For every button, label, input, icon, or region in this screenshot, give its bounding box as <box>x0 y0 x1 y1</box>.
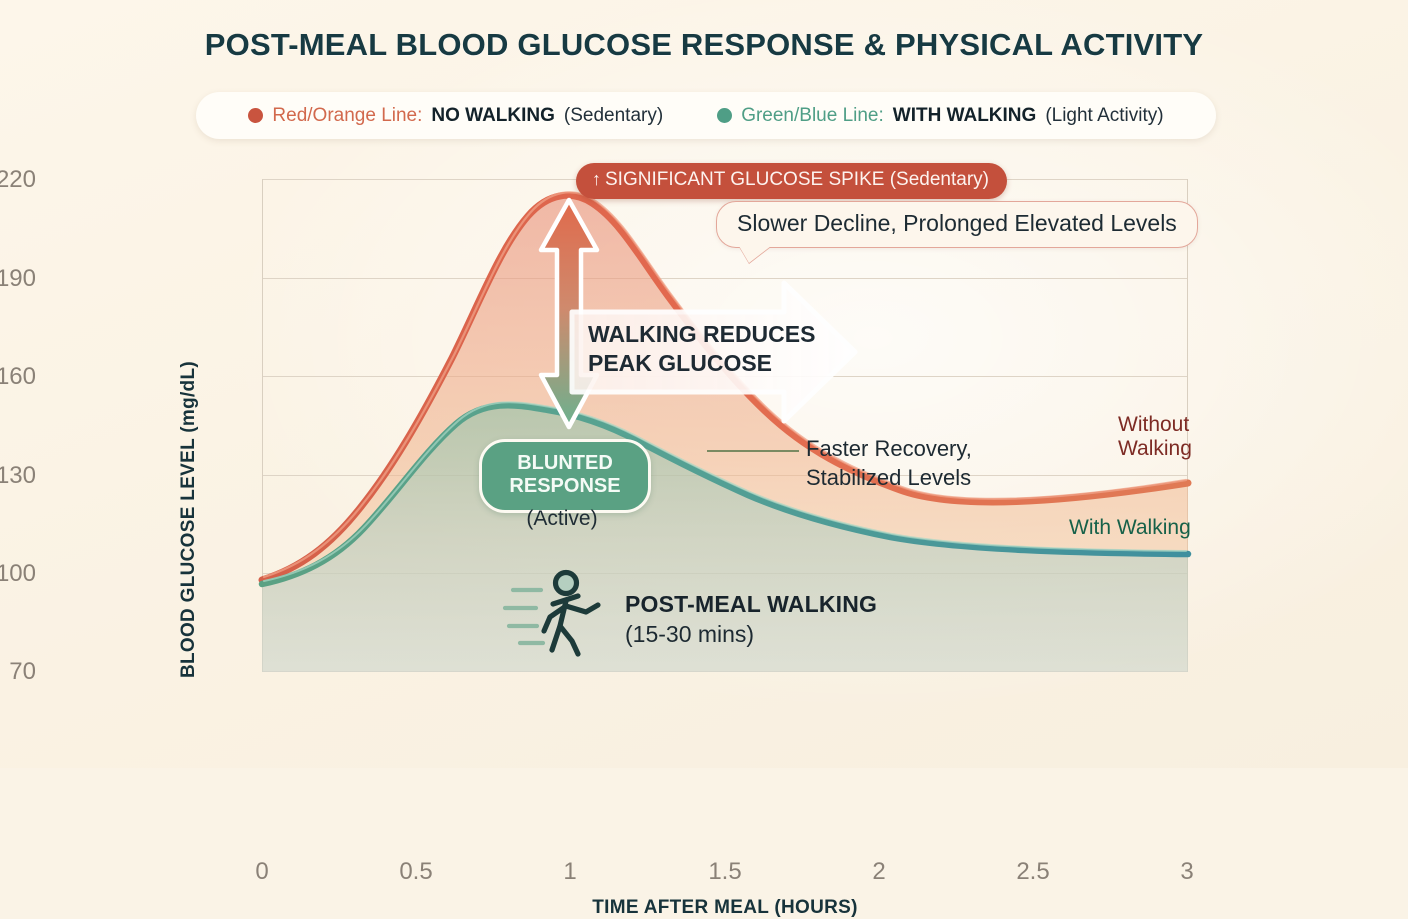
gridline-190 <box>262 278 1188 279</box>
post-meal-walking-label: POST-MEAL WALKING (15-30 mins) <box>625 590 877 650</box>
legend-strong-active: WITH WALKING <box>893 105 1037 127</box>
blunted-line-2: RESPONSE <box>482 475 648 498</box>
x-axis-title: TIME AFTER MEAL (HOURS) <box>262 897 1188 919</box>
blunted-line-1: BLUNTED <box>482 452 648 475</box>
spike-badge-label: SIGNIFICANT GLUCOSE SPIKE (Sedentary) <box>605 169 989 190</box>
spike-badge: ↑SIGNIFICANT GLUCOSE SPIKE (Sedentary) <box>576 163 1007 199</box>
faster-line-2: Stabilized Levels <box>806 463 972 492</box>
without-line-2: Walking <box>1118 437 1192 461</box>
axis-left-edge <box>262 179 263 672</box>
series-label-with-walking: With Walking <box>1069 516 1191 540</box>
walking-reduces-label: WALKING REDUCES PEAK GLUCOSE <box>588 320 815 379</box>
legend-strong-sedentary: NO WALKING <box>431 105 555 127</box>
xtick-2: 2 <box>872 858 885 886</box>
without-line-1: Without <box>1118 413 1192 437</box>
legend-item-sedentary: Red/Orange Line: NO WALKING (Sedentary) <box>248 105 663 127</box>
reduce-line-1: WALKING REDUCES <box>588 320 815 349</box>
legend-prefix-sedentary: Red/Orange Line: <box>272 105 422 127</box>
up-arrow-icon: ↑ <box>592 169 601 189</box>
chart-canvas: POST-MEAL BLOOD GLUCOSE RESPONSE & PHYSI… <box>0 0 1408 768</box>
blunted-active-sublabel: (Active) <box>479 507 645 531</box>
legend-suffix-sedentary: (Sedentary) <box>564 105 663 127</box>
slower-decline-callout: Slower Decline, Prolonged Elevated Level… <box>716 201 1198 248</box>
faster-line-1: Faster Recovery, <box>806 434 972 463</box>
legend-item-active: Green/Blue Line: WITH WALKING (Light Act… <box>717 105 1163 127</box>
reduce-line-2: PEAK GLUCOSE <box>588 349 815 378</box>
gridline-100 <box>262 573 1188 574</box>
ytick-100: 100 <box>0 560 36 588</box>
ytick-190: 190 <box>0 265 36 293</box>
legend-prefix-active: Green/Blue Line: <box>741 105 884 127</box>
ytick-70: 70 <box>0 658 36 686</box>
xtick-2.5: 2.5 <box>1016 858 1049 886</box>
ytick-130: 130 <box>0 462 36 490</box>
ytick-160: 160 <box>0 363 36 391</box>
chart-legend: Red/Orange Line: NO WALKING (Sedentary) … <box>196 92 1216 139</box>
xtick-1.5: 1.5 <box>708 858 741 886</box>
slower-decline-label: Slower Decline, Prolonged Elevated Level… <box>737 210 1177 236</box>
faster-recovery-label: Faster Recovery, Stabilized Levels <box>806 434 972 492</box>
green-dot-icon <box>717 108 732 123</box>
y-axis-title: BLOOD GLUCOSE LEVEL (mg/dL) <box>178 361 200 678</box>
xtick-3: 3 <box>1180 858 1193 886</box>
series-label-without-walking: Without Walking <box>1118 413 1192 462</box>
ytick-220: 220 <box>0 166 36 194</box>
legend-suffix-active: (Light Activity) <box>1045 105 1163 127</box>
blunted-response-pill: BLUNTED RESPONSE <box>479 439 651 513</box>
faster-recovery-leader-line <box>707 450 799 452</box>
red-dot-icon <box>248 108 263 123</box>
walking-line-1: POST-MEAL WALKING <box>625 590 877 620</box>
gridline-70 <box>262 671 1188 672</box>
xtick-0: 0 <box>255 858 268 886</box>
walking-line-2: (15-30 mins) <box>625 620 877 650</box>
xtick-0.5: 0.5 <box>399 858 432 886</box>
gridline-130 <box>262 475 1188 476</box>
xtick-1: 1 <box>563 858 576 886</box>
page-title: POST-MEAL BLOOD GLUCOSE RESPONSE & PHYSI… <box>0 27 1408 63</box>
